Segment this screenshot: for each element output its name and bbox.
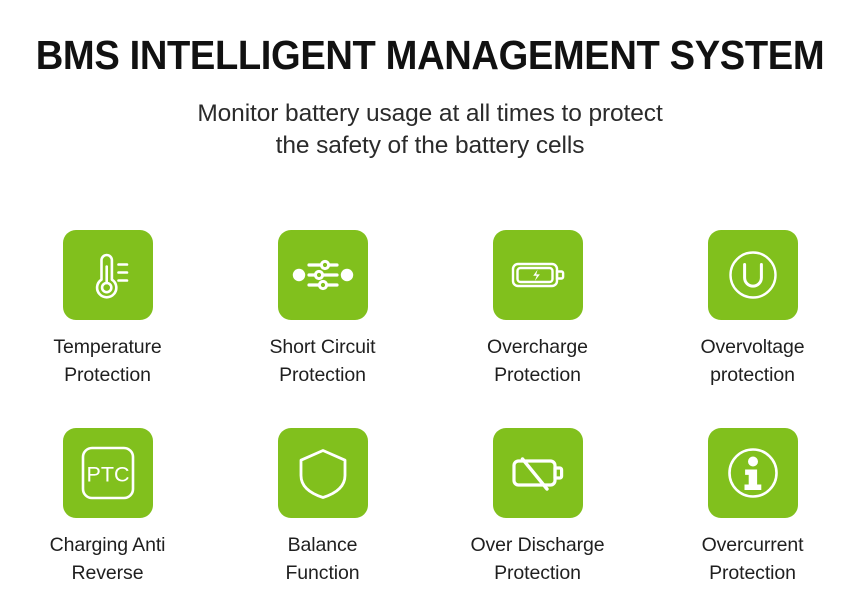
feature-label-line-2: Protection [702, 560, 804, 588]
feature-label: Short Circuit Protection [270, 334, 376, 389]
feature-icon-tile [278, 230, 368, 320]
feature-item-overcurrent-protection: Overcurrent Protection [645, 410, 860, 606]
feature-icon-tile [708, 230, 798, 320]
feature-label-line-1: Charging Anti [50, 532, 166, 560]
feature-icon-tile [493, 428, 583, 518]
header: BMS INTELLIGENT MANAGEMENT SYSTEM Monito… [0, 0, 860, 163]
page-subtitle: Monitor battery usage at all times to pr… [0, 77, 860, 163]
feature-label-line-1: Overvoltage [700, 334, 804, 362]
feature-label: Overcharge Protection [487, 334, 588, 389]
feature-icon-tile: PTC [63, 428, 153, 518]
feature-label: Overcurrent Protection [702, 532, 804, 587]
feature-icon-tile [278, 428, 368, 518]
sliders-icon [292, 247, 354, 303]
feature-label-line-1: Temperature [53, 334, 161, 362]
feature-label-line-2: Function [286, 560, 360, 588]
bms-infographic: BMS INTELLIGENT MANAGEMENT SYSTEM Monito… [0, 0, 860, 614]
feature-item-overvoltage-protection: Overvoltage protection [645, 214, 860, 410]
ptc-icon: PTC [77, 442, 139, 504]
feature-label: Balance Function [286, 532, 360, 587]
feature-item-short-circuit-protection: Short Circuit Protection [215, 214, 430, 410]
feature-label: Over Discharge Protection [470, 532, 604, 587]
feature-item-charging-anti-reverse: PTC Charging Anti Reverse [0, 410, 215, 606]
feature-icon-tile [63, 230, 153, 320]
feature-label-line-1: Overcurrent [702, 532, 804, 560]
feature-label: Temperature Protection [53, 334, 161, 389]
page-title: BMS INTELLIGENT MANAGEMENT SYSTEM [30, 34, 830, 77]
feature-label-line-1: Overcharge [487, 334, 588, 362]
shield-icon [295, 444, 351, 502]
feature-label-line-1: Over Discharge [470, 532, 604, 560]
feature-item-over-discharge-protection: Over Discharge Protection [430, 410, 645, 606]
feature-item-temperature-protection: Temperature Protection [0, 214, 215, 410]
thermometer-icon [80, 247, 136, 303]
feature-icon-tile [708, 428, 798, 518]
circle-u-icon [723, 245, 783, 305]
feature-item-overcharge-protection: Overcharge Protection [430, 214, 645, 410]
feature-label: Charging Anti Reverse [50, 532, 166, 587]
ptc-icon-text: PTC [86, 463, 129, 487]
subtitle-line-2: the safety of the battery cells [0, 130, 860, 162]
feature-label: Overvoltage protection [700, 334, 804, 389]
feature-label-line-2: Protection [487, 362, 588, 390]
feature-label-line-1: Balance [286, 532, 360, 560]
feature-item-balance-function: Balance Function [215, 410, 430, 606]
feature-label-line-2: Reverse [50, 560, 166, 588]
feature-label-line-2: Protection [53, 362, 161, 390]
feature-icon-tile [493, 230, 583, 320]
feature-label-line-2: Protection [270, 362, 376, 390]
battery-charging-icon [507, 247, 569, 303]
battery-slash-icon [507, 445, 569, 501]
feature-label-line-2: Protection [470, 560, 604, 588]
feature-label-line-2: protection [700, 362, 804, 390]
circle-info-icon [722, 442, 784, 504]
feature-label-line-1: Short Circuit [270, 334, 376, 362]
feature-grid: Temperature Protection [0, 214, 860, 606]
subtitle-line-1: Monitor battery usage at all times to pr… [0, 98, 860, 130]
